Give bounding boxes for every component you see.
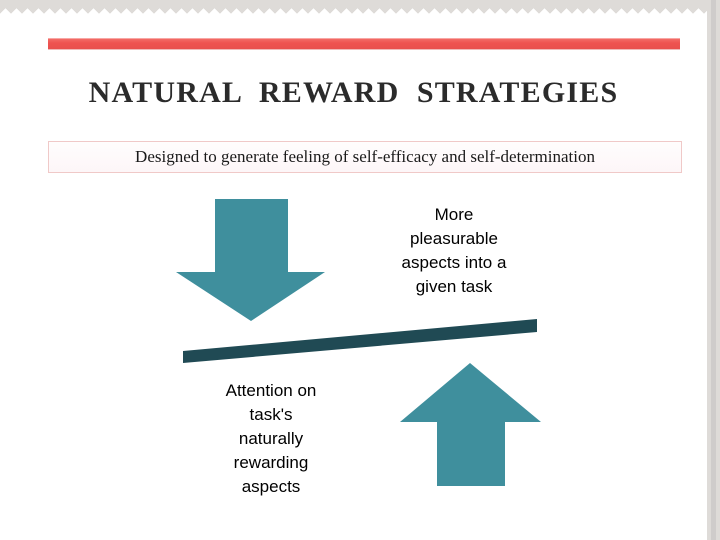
subtitle-box: Designed to generate feeling of self-eff… — [48, 141, 682, 173]
subtitle-text: Designed to generate feeling of self-eff… — [135, 147, 595, 167]
callout-attention-on-task: Attention on task's naturally rewarding … — [183, 379, 359, 499]
decorative-zigzag-top-border — [0, 8, 707, 20]
title-accent-bar — [48, 38, 680, 50]
title-accent-bar-fill — [48, 39, 680, 49]
slide-root: NATURAL REWARD STRATEGIES Designed to ge… — [0, 0, 720, 540]
page-right-margin — [707, 0, 720, 540]
page-title: NATURAL REWARD STRATEGIES — [0, 76, 707, 110]
page-right-margin-shadow — [711, 0, 716, 540]
callout-more-pleasurable-aspects: More pleasurable aspects into a given ta… — [363, 203, 545, 299]
